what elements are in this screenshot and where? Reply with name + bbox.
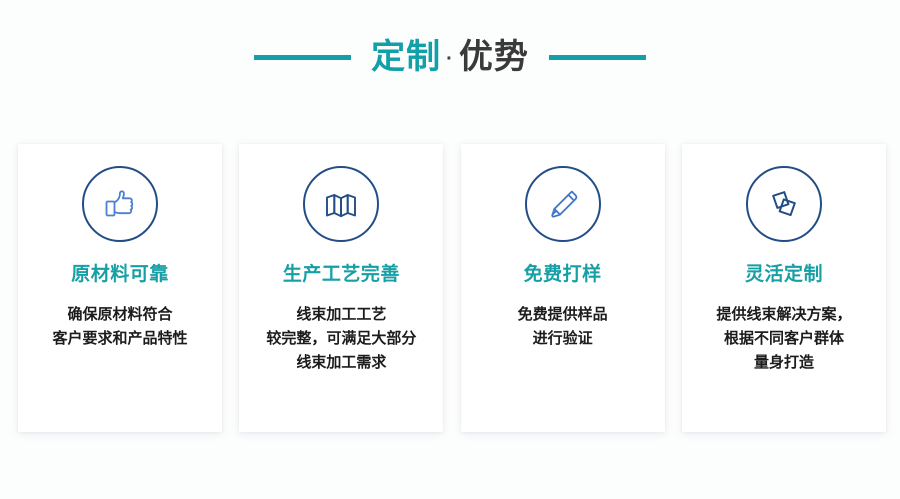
- feature-card[interactable]: 灵活定制 提供线束解决方案， 根据不同客户群体 量身打造: [682, 144, 886, 432]
- section-title: 定制 · 优势: [0, 28, 900, 86]
- card-body: 线束加工工艺 较完整，可满足大部分 线束加工需求: [258, 303, 424, 376]
- feature-card[interactable]: 免费打样 免费提供样品 进行验证: [461, 144, 665, 432]
- title-rule-left: [254, 55, 351, 60]
- feature-card[interactable]: 原材料可靠 确保原材料符合 客户要求和产品特性: [18, 144, 222, 432]
- page-title: 定制 · 优势: [371, 40, 529, 74]
- card-body: 免费提供样品 进行验证: [510, 303, 616, 352]
- icon-circle: [746, 166, 822, 242]
- icon-circle: [303, 166, 379, 242]
- card-body: 确保原材料符合 客户要求和产品特性: [44, 303, 195, 352]
- page-title-accent: 定制: [371, 40, 441, 74]
- pencil-icon: [543, 184, 583, 224]
- stacked-cards-icon: [764, 184, 804, 224]
- card-heading: 免费打样: [524, 264, 602, 287]
- card-body: 提供线束解决方案， 根据不同客户群体 量身打造: [708, 303, 859, 376]
- card-heading: 原材料可靠: [71, 264, 169, 287]
- feature-card[interactable]: 生产工艺完善 线束加工工艺 较完整，可满足大部分 线束加工需求: [239, 144, 443, 432]
- card-heading: 生产工艺完善: [283, 264, 400, 287]
- folded-map-icon: [321, 184, 361, 224]
- title-rule-right: [549, 55, 646, 60]
- icon-circle: [82, 166, 158, 242]
- page-title-separator: ·: [441, 49, 459, 69]
- card-heading: 灵活定制: [745, 264, 823, 287]
- page-title-main: 优势: [459, 40, 529, 74]
- icon-circle: [525, 166, 601, 242]
- feature-card-row: 原材料可靠 确保原材料符合 客户要求和产品特性 生产工艺完善 线束加工工艺 较完…: [18, 144, 886, 432]
- thumbs-up-icon: [100, 184, 140, 224]
